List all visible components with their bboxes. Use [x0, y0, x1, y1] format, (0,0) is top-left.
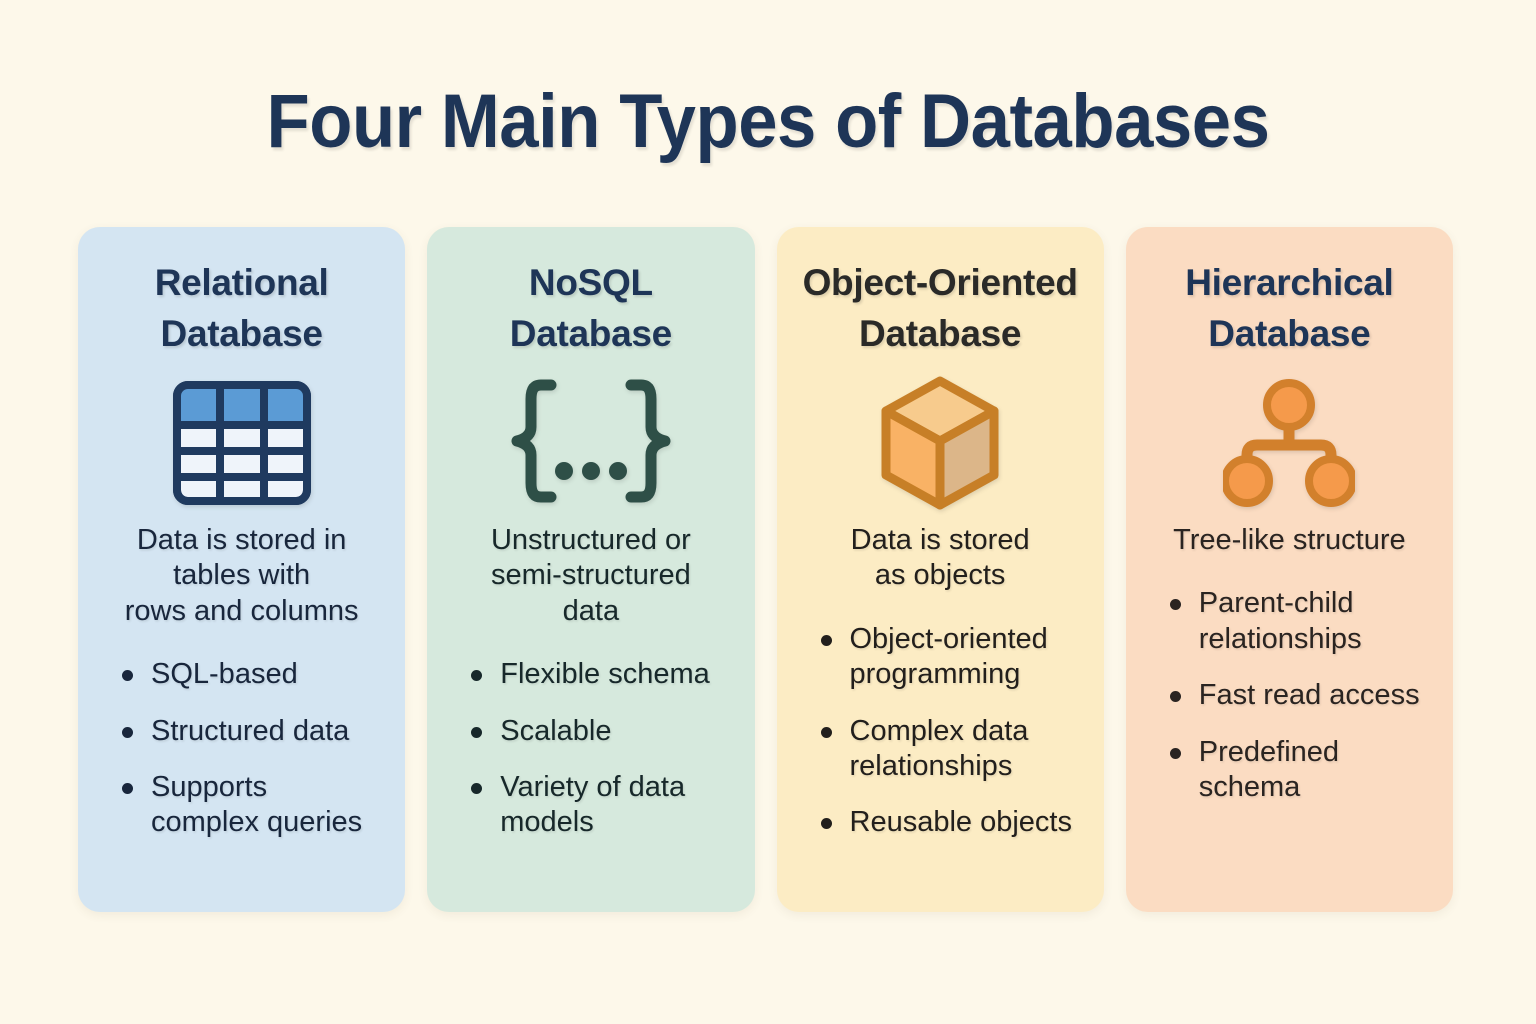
- card-nosql-database[interactable]: NoSQL Database Unstructured or semi-stru…: [427, 227, 754, 912]
- list-item: Predefined schema: [1170, 735, 1439, 806]
- page-title: Four Main Types of Databases: [54, 78, 1482, 165]
- card-description-object-oriented: Data is stored as objects: [777, 523, 1104, 594]
- card-title-line1: Hierarchical: [1185, 262, 1393, 303]
- tree-hierarchy-icon: [1223, 379, 1355, 507]
- card-relational-database[interactable]: Relational Database Data is stored in ta…: [78, 227, 405, 912]
- curly-braces-icon: [507, 379, 675, 507]
- card-title-line2: Database: [1208, 313, 1370, 354]
- card-description-nosql: Unstructured or semi-structured data: [427, 523, 754, 629]
- infographic-page: Four Main Types of Databases Relational …: [0, 0, 1536, 1024]
- table-grid-icon: [173, 381, 311, 505]
- list-item: Fast read access: [1170, 678, 1439, 713]
- card-bullets-relational: SQL-based Structured data Supports compl…: [78, 657, 405, 841]
- card-description-hierarchical: Tree-like structure: [1126, 523, 1453, 558]
- list-item: Structured data: [122, 714, 391, 749]
- card-title-line2: Database: [510, 313, 672, 354]
- card-title-line2: Database: [161, 313, 323, 354]
- card-bullets-hierarchical: Parent-child relationships Fast read acc…: [1126, 586, 1453, 805]
- card-title-nosql: NoSQL Database: [427, 227, 754, 359]
- card-description-relational: Data is stored in tables with rows and c…: [78, 523, 405, 629]
- list-item: Parent-child relationships: [1170, 586, 1439, 657]
- card-title-line1: Relational: [155, 262, 329, 303]
- list-item: Flexible schema: [471, 657, 740, 692]
- database-type-cards: Relational Database Data is stored in ta…: [78, 227, 1453, 912]
- card-icon-wrapper-relational: [78, 363, 405, 523]
- card-title-line1: NoSQL: [529, 262, 653, 303]
- card-title-line1: Object-Oriented: [803, 262, 1078, 303]
- card-hierarchical-database[interactable]: Hierarchical Database Tree-like structur…: [1126, 227, 1453, 912]
- card-icon-wrapper-nosql: [427, 363, 754, 523]
- list-item: Supports complex queries: [122, 770, 391, 841]
- list-item: Complex data relationships: [821, 714, 1090, 785]
- list-item: Variety of data models: [471, 770, 740, 841]
- card-title-hierarchical: Hierarchical Database: [1126, 227, 1453, 359]
- card-object-oriented-database[interactable]: Object-Oriented Database Data is stored …: [777, 227, 1104, 912]
- list-item: Reusable objects: [821, 805, 1090, 840]
- card-icon-wrapper-hierarchical: [1126, 363, 1453, 523]
- list-item: SQL-based: [122, 657, 391, 692]
- card-icon-wrapper-object-oriented: [777, 363, 1104, 523]
- card-title-object-oriented: Object-Oriented Database: [777, 227, 1104, 359]
- card-title-line2: Database: [859, 313, 1021, 354]
- list-item: Object-oriented programming: [821, 622, 1090, 693]
- list-item: Scalable: [471, 714, 740, 749]
- card-title-relational: Relational Database: [78, 227, 405, 359]
- card-bullets-nosql: Flexible schema Scalable Variety of data…: [427, 657, 754, 841]
- card-bullets-object-oriented: Object-oriented programming Complex data…: [777, 622, 1104, 841]
- cube-3d-icon: [878, 375, 1002, 511]
